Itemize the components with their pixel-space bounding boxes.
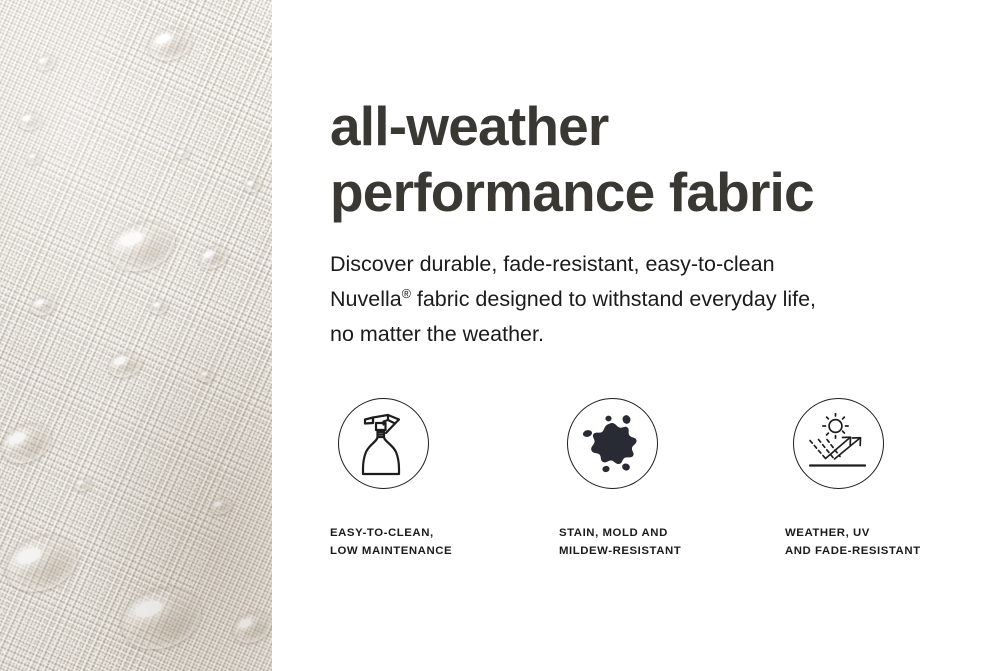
feature-list: EASY-TO-CLEAN, LOW MAINTENANCE — [330, 398, 995, 560]
description-line-1: Discover durable, fade-resistant, easy-t… — [330, 252, 775, 276]
feature-stain-resistant: STAIN, MOLD AND MILDEW-RESISTANT — [559, 398, 785, 560]
feature-caption: EASY-TO-CLEAN, LOW MAINTENANCE — [330, 489, 559, 560]
promo-banner: all-weather performance fabric Discover … — [0, 0, 1005, 671]
page-title: all-weather performance fabric — [330, 93, 990, 225]
promo-content: all-weather performance fabric Discover … — [330, 0, 1005, 671]
ink-splat-icon — [567, 398, 658, 489]
description-line-2: fabric designed to withstand everyday li… — [411, 287, 816, 311]
promo-description: Discover durable, fade-resistant, easy-t… — [330, 247, 970, 352]
feature-easy-to-clean: EASY-TO-CLEAN, LOW MAINTENANCE — [330, 398, 559, 560]
brand-name: Nuvella — [330, 287, 402, 311]
feature-caption: WEATHER, UV AND FADE-RESISTANT — [785, 489, 995, 560]
fabric-lighting-overlay — [0, 0, 272, 671]
description-line-3: no matter the weather. — [330, 322, 544, 346]
feature-weather-uv-resistant: WEATHER, UV AND FADE-RESISTANT — [785, 398, 995, 560]
spray-bottle-icon — [338, 398, 429, 489]
sun-uv-fade-icon — [793, 398, 884, 489]
feature-caption: STAIN, MOLD AND MILDEW-RESISTANT — [559, 489, 785, 560]
fabric-photo — [0, 0, 272, 671]
registered-trademark-icon: ® — [402, 287, 411, 301]
